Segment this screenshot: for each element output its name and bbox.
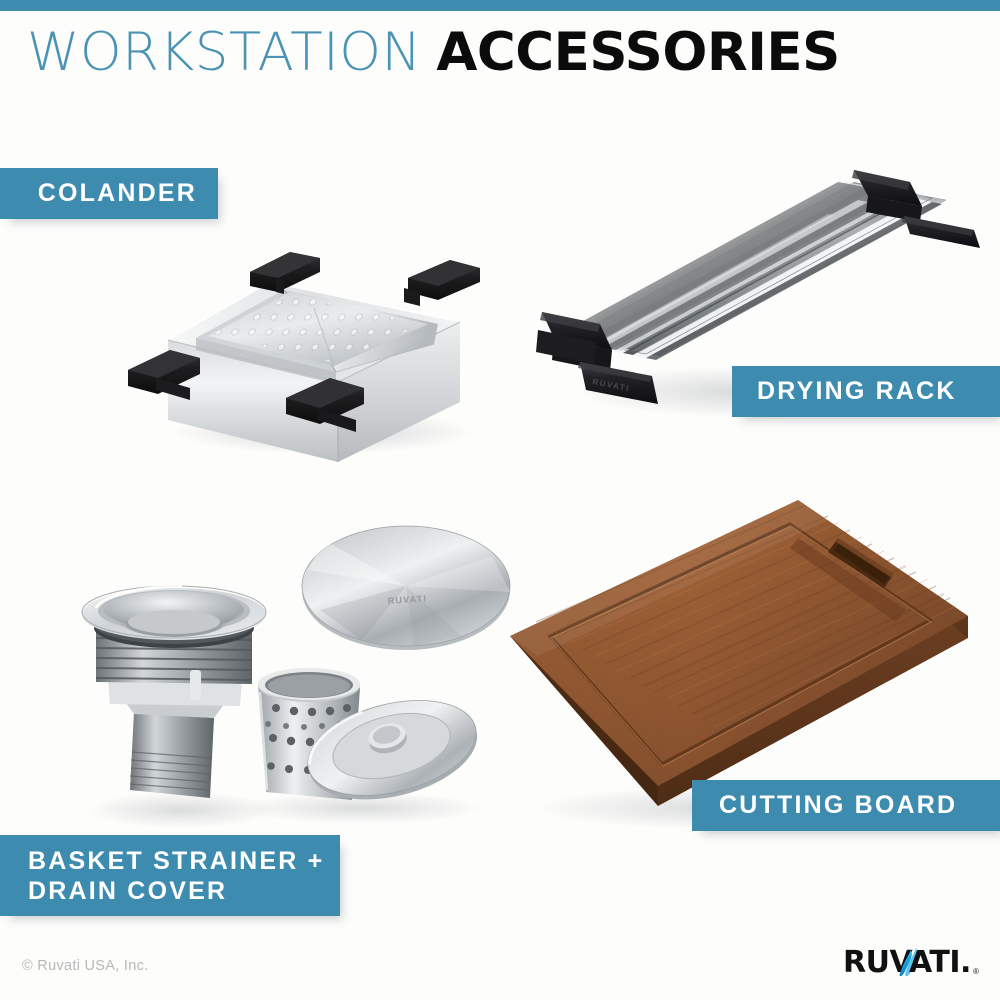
- drain-flange-body: [82, 586, 266, 798]
- basket-strainer-image: RUVATI: [62, 500, 512, 840]
- product-accessories-poster: WORKSTATION ACCESSORIES: [0, 0, 1000, 1000]
- ruvati-logo: RUV ATI. ®: [843, 946, 983, 980]
- page-title: WORKSTATION ACCESSORIES: [27, 22, 840, 84]
- label-cutting-board-text: CUTTING BOARD: [719, 791, 957, 820]
- label-colander-text: COLANDER: [38, 179, 197, 208]
- page-title-light: WORKSTATION: [27, 22, 422, 83]
- drying-rack-tab-right: [902, 216, 980, 248]
- label-basket-strainer-line2: DRAIN COVER: [28, 876, 227, 906]
- label-cutting-board: CUTTING BOARD: [692, 780, 1000, 831]
- label-basket-strainer: BASKET STRAINER + DRAIN COVER: [0, 835, 340, 916]
- label-basket-strainer-line1: BASKET STRAINER +: [28, 846, 324, 876]
- drain-cover-disc: RUVATI: [302, 526, 510, 650]
- ruvati-logo-registered-mark: ®: [973, 967, 979, 976]
- ruvati-logo-text-left: RUV: [843, 946, 913, 980]
- top-accent-bar: [0, 0, 1000, 11]
- label-colander: COLANDER: [0, 168, 218, 219]
- colander-grip-front-left: [128, 350, 200, 400]
- copyright-text: © Ruvati USA, Inc.: [22, 958, 148, 974]
- ruvati-logo-text-right: ATI.: [909, 946, 971, 980]
- label-drying-rack-text: DRYING RACK: [757, 377, 957, 406]
- colander-grip-back-right: [404, 260, 480, 306]
- label-drying-rack: DRYING RACK: [732, 366, 1000, 417]
- colander-grip-back-left: [250, 252, 320, 294]
- page-title-bold: ACCESSORIES: [436, 22, 839, 83]
